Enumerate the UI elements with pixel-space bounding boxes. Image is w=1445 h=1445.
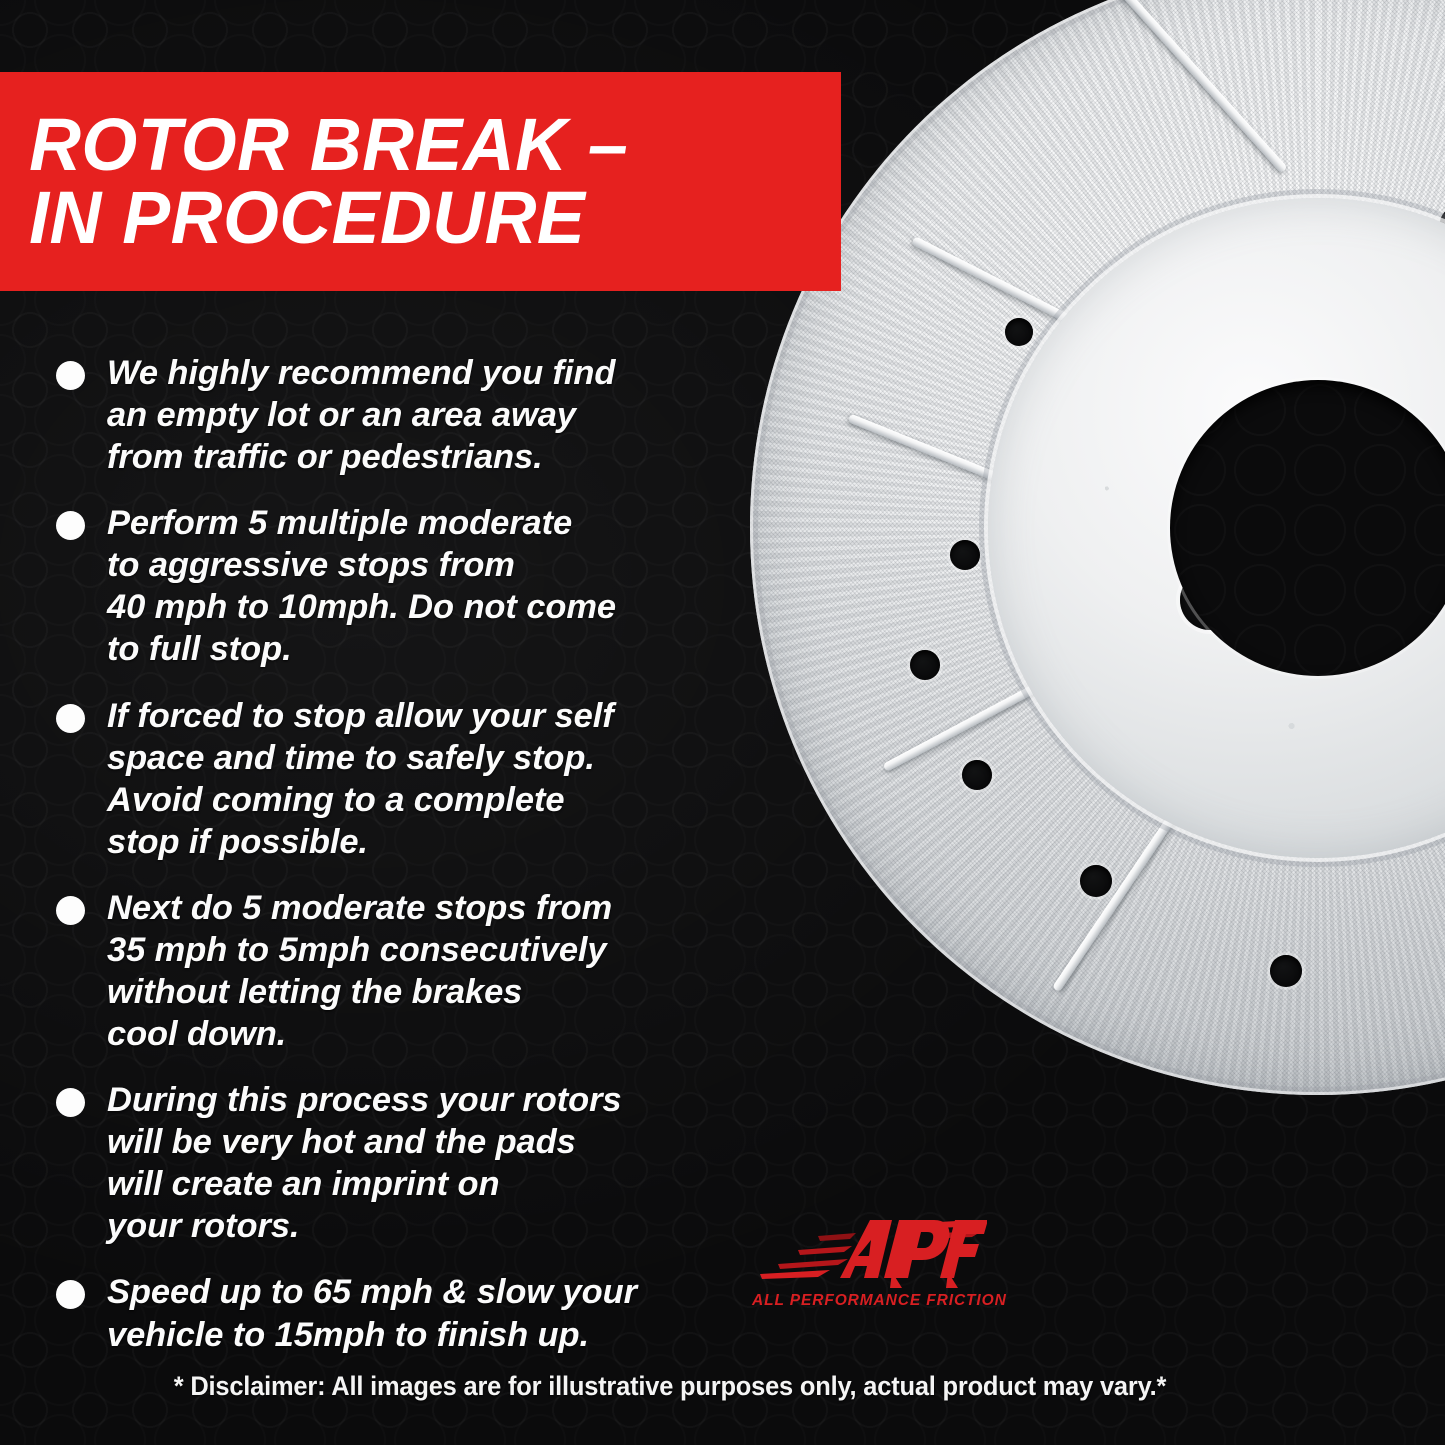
promo-graphic: ROTOR BREAK – IN PROCEDURE We highly rec…: [0, 0, 1445, 1445]
list-item-text: During this process your rotors will be …: [107, 1079, 622, 1247]
circle-bullet-icon: [56, 361, 85, 390]
list-item: Next do 5 moderate stops from 35 mph to …: [40, 887, 760, 1055]
list-item-text: Next do 5 moderate stops from 35 mph to …: [107, 887, 612, 1055]
apf-wordmark-icon: [752, 1212, 987, 1288]
circle-bullet-icon: [56, 1280, 85, 1309]
list-item-text: Speed up to 65 mph & slow your vehicle t…: [107, 1271, 637, 1355]
disclaimer-text: * Disclaimer: All images are for illustr…: [27, 1371, 1313, 1402]
circle-bullet-icon: [56, 1088, 85, 1117]
list-item: If forced to stop allow your self space …: [40, 695, 760, 863]
list-item: Perform 5 multiple moderate to aggressiv…: [40, 502, 760, 670]
circle-bullet-icon: [56, 704, 85, 733]
list-item: Speed up to 65 mph & slow your vehicle t…: [40, 1271, 760, 1355]
list-item-text: Perform 5 multiple moderate to aggressiv…: [107, 502, 616, 670]
list-item: During this process your rotors will be …: [40, 1079, 760, 1247]
procedure-list: We highly recommend you find an empty lo…: [40, 352, 760, 1380]
list-item-text: We highly recommend you find an empty lo…: [107, 352, 615, 478]
apf-tagline: ALL PERFORMANCE FRICTION: [752, 1292, 987, 1310]
list-item-text: If forced to stop allow your self space …: [107, 695, 614, 863]
headline-banner: ROTOR BREAK – IN PROCEDURE: [0, 72, 841, 291]
apf-logo: ALL PERFORMANCE FRICTION: [752, 1212, 987, 1320]
page-title: ROTOR BREAK – IN PROCEDURE: [0, 109, 628, 254]
circle-bullet-icon: [56, 511, 85, 540]
circle-bullet-icon: [56, 896, 85, 925]
list-item: We highly recommend you find an empty lo…: [40, 352, 760, 478]
